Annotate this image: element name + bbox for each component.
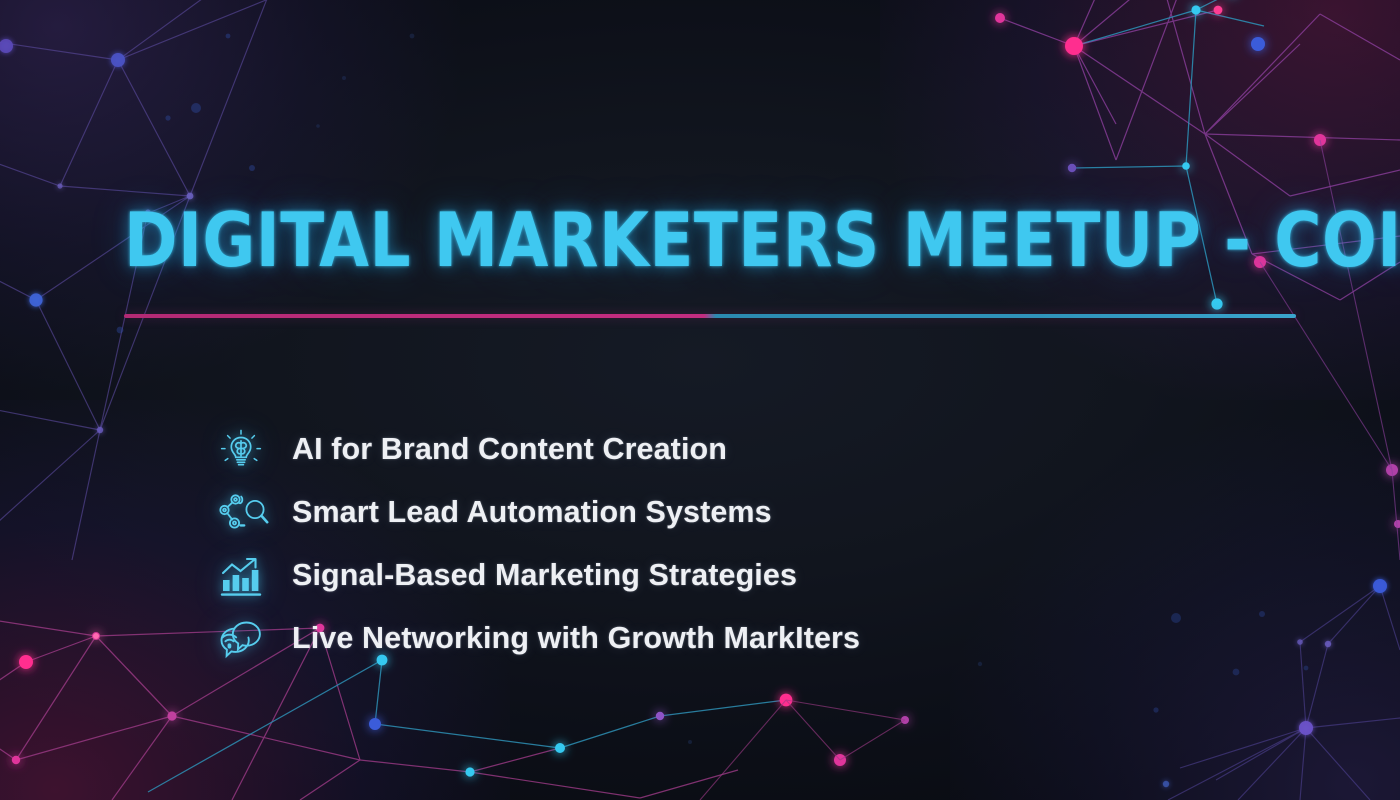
ai-lightbulb-brain-icon: [218, 427, 292, 473]
slide-content: Digital Marketers Meetup - Coimbatore AI…: [0, 0, 1400, 800]
list-item: Signal-Based Marketing Strategies: [218, 544, 860, 607]
list-item: AI for Brand Content Creation: [218, 418, 860, 481]
list-item: Smart Lead Automation Systems: [218, 481, 860, 544]
bullet-list: AI for Brand Content Creation: [218, 418, 860, 670]
slide-canvas: Digital Marketers Meetup - Coimbatore AI…: [0, 0, 1400, 800]
list-item-label: Signal-Based Marketing Strategies: [292, 558, 797, 593]
chat-bubbles-wifi-icon: [218, 616, 292, 662]
list-item-label: AI for Brand Content Creation: [292, 432, 727, 467]
list-item: Live Networking with Growth MarkIters: [218, 607, 860, 670]
bar-chart-growth-arrow-icon: [218, 554, 292, 598]
list-item-label: Smart Lead Automation Systems: [292, 495, 772, 530]
page-title: Digital Marketers Meetup - Coimbatore: [124, 204, 1243, 278]
title-divider: [124, 314, 1296, 318]
list-item-label: Live Networking with Growth MarkIters: [292, 621, 860, 656]
robot-arm-magnifier-icon: [218, 490, 292, 536]
title-block: Digital Marketers Meetup - Coimbatore: [124, 204, 1296, 318]
